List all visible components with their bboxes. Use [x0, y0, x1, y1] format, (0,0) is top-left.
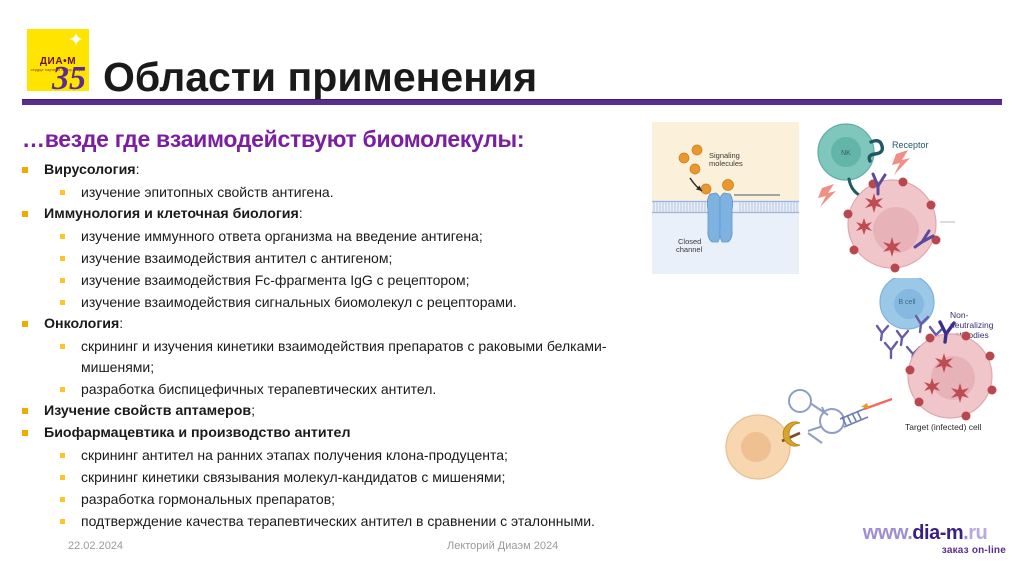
footer-event-name: Лекторий Диаэм 2024 — [447, 540, 558, 552]
bullet-text: скрининг антител на ранних этапах получе… — [81, 445, 508, 466]
bullet-text: скрининг и изучения кинетики взаимодейст… — [81, 336, 662, 378]
bullet-item-l2: изучение взаимодействия Fc-фрагмента IgG… — [22, 270, 662, 291]
label-neutralizing: neutralizing — [950, 320, 994, 330]
star-icon: ✦ — [66, 31, 86, 51]
label-molecules: molecules — [709, 159, 743, 168]
bullet-marker-icon — [60, 278, 65, 283]
bullet-marker-icon — [60, 497, 65, 502]
url-tld: ru — [968, 522, 987, 544]
bullet-text: Онкология: — [44, 314, 123, 335]
label-non: Non- — [950, 310, 969, 320]
bullet-text: разработка гормональных препаратов; — [81, 489, 335, 510]
bullet-item-l1: Вирусология: — [22, 160, 662, 181]
bullet-text: Изучение свойств аптамеров; — [44, 401, 255, 422]
bullet-text: Вирусология: — [44, 160, 140, 181]
website-url: www.dia-m.ru — [840, 522, 1010, 544]
bullet-marker-icon — [22, 408, 28, 414]
url-domain: dia-m — [912, 522, 963, 544]
bullet-item-l1: Онкология: — [22, 314, 662, 335]
bullet-text: изучение взаимодействия сигнальных биомо… — [81, 292, 517, 313]
bullet-item-l1: Иммунология и клеточная биология: — [22, 204, 662, 225]
title-divider — [22, 99, 1002, 105]
bullet-marker-icon — [60, 234, 65, 239]
bullet-item-l1: Биофармацевтика и производство антител — [22, 423, 662, 444]
bullet-marker-icon — [22, 430, 28, 436]
page-title: Области применения — [103, 52, 537, 102]
bullet-item-l2: изучение взаимодействия антител с антиге… — [22, 248, 662, 269]
figure-aptamer-binding — [722, 385, 902, 495]
bullet-text: подтверждение качества терапевтических а… — [81, 511, 595, 532]
bullet-marker-icon — [60, 190, 65, 195]
dia-m-website-logo[interactable]: www.dia-m.ru заказ on-line — [840, 522, 1010, 556]
figure-signaling-closed-channel: Signaling molecules Closed channel — [652, 122, 799, 274]
bullet-item-l2: скрининг антител на ранних этапах получе… — [22, 445, 662, 466]
bullet-item-l2: изучение взаимодействия сигнальных биомо… — [22, 292, 662, 313]
bullet-item-l2: подтверждение качества терапевтических а… — [22, 511, 662, 532]
bullet-item-l2: разработка биспицефичных терапевтических… — [22, 379, 662, 400]
bullet-text: Иммунология и клеточная биология: — [44, 204, 303, 225]
footer-date: 22.02.2024 — [68, 540, 123, 552]
bullet-text: изучение иммунного ответа организма на в… — [81, 226, 483, 247]
bullet-marker-icon — [60, 300, 65, 305]
label-target-cell: Target (infected) cell — [905, 422, 982, 432]
label-receptor: Receptor — [892, 140, 929, 150]
bullet-marker-icon — [60, 256, 65, 261]
bullet-text: Биофармацевтика и производство антител — [44, 423, 350, 444]
bullet-list: Вирусология:изучение эпитопных свойств а… — [22, 160, 662, 533]
bullet-marker-icon — [60, 475, 65, 480]
figure-nk-cell-receptor: NK Receptor — [800, 112, 1020, 292]
bullet-item-l1: Изучение свойств аптамеров; — [22, 401, 662, 422]
slide-subtitle: …везде где взаимодействуют биомолекулы: — [22, 126, 524, 153]
bullet-text: скрининг кинетики связывания молекул-кан… — [81, 467, 505, 488]
bullet-text: изучение эпитопных свойств антигена. — [81, 182, 334, 203]
slide-canvas: ✦ ДИА•М сердце научных лабораторий 35 Об… — [0, 0, 1024, 571]
bullet-marker-icon — [60, 453, 65, 458]
url-www: www — [863, 522, 907, 544]
bullet-marker-icon — [60, 387, 65, 392]
label-channel: channel — [676, 245, 703, 254]
bullet-marker-icon — [60, 519, 65, 524]
bullet-item-l2: изучение иммунного ответа организма на в… — [22, 226, 662, 247]
label-nk: NK — [841, 150, 851, 157]
bullet-marker-icon — [60, 344, 65, 349]
bullet-marker-icon — [22, 167, 28, 173]
bullet-text: изучение взаимодействия Fc-фрагмента IgG… — [81, 270, 469, 291]
bullet-item-l2: разработка гормональных препаратов; — [22, 489, 662, 510]
bullet-marker-icon — [22, 321, 28, 327]
closed-channel-protein — [707, 193, 732, 242]
bullet-text: разработка биспицефичных терапевтических… — [81, 379, 436, 400]
bullet-item-l2: скрининг кинетики связывания молекул-кан… — [22, 467, 662, 488]
anniversary-badge: 35 — [52, 62, 86, 96]
bullet-item-l2: изучение эпитопных свойств антигена. — [22, 182, 662, 203]
order-online-tagline: заказ on-line — [840, 545, 1010, 556]
bullet-item-l2: скрининг и изучения кинетики взаимодейст… — [22, 336, 662, 378]
label-bcell: B cell — [898, 299, 916, 306]
bullet-text: изучение взаимодействия антител с антиге… — [81, 248, 392, 269]
bullet-marker-icon — [22, 211, 28, 217]
